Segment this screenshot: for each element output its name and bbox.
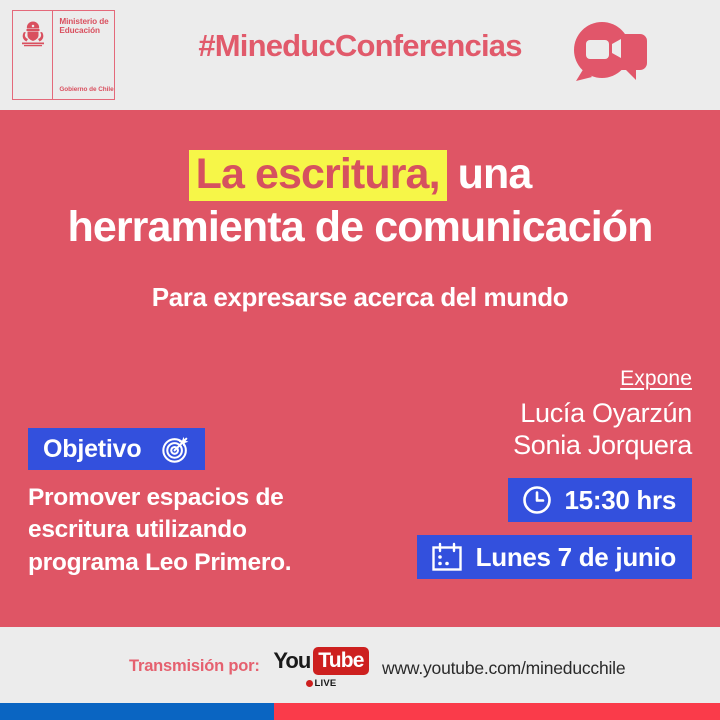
logo-ministry-line1: Ministerio de [59, 17, 110, 26]
poster-body: La escritura, una herramienta de comunic… [0, 110, 720, 627]
objetivo-badge: Objetivo [28, 428, 205, 470]
speaker-name-1: Lucía Oyarzún [520, 398, 692, 429]
record-dot-icon [306, 680, 313, 687]
youtube-wordmark: You Tube [283, 647, 359, 675]
chile-coat-of-arms-icon [18, 19, 48, 49]
logo-ministry-text: Ministerio de Educación [59, 17, 110, 36]
objetivo-label: Objetivo [43, 435, 141, 464]
youtube-you-text: You [273, 650, 310, 672]
date-badge: Lunes 7 de junio [417, 535, 692, 579]
target-icon [161, 434, 191, 464]
logo-government-text: Gobierno de Chile [59, 86, 113, 93]
poster-header: Ministerio de Educación Gobierno de Chil… [0, 0, 720, 110]
youtube-channel-url[interactable]: www.youtube.com/mineducchile [382, 658, 625, 679]
objetivo-line-3: programa Leo Primero. [28, 547, 358, 579]
chile-flag-bar [0, 703, 720, 720]
logo-text-panel: Ministerio de Educación Gobierno de Chil… [53, 11, 114, 99]
speaker-name-2: Sonia Jorquera [513, 430, 692, 461]
objetivo-description: Promover espacios de escritura utilizand… [28, 482, 358, 579]
video-chat-bubble-icon [566, 18, 654, 92]
poster-subtitle: Para expresarse acerca del mundo [0, 282, 720, 313]
time-badge-text: 15:30 hrs [565, 485, 676, 516]
objetivo-icon-wrap [161, 434, 191, 464]
logo-ministry-line2: Educación [59, 26, 110, 35]
youtube-live-badge: LIVE [283, 678, 359, 689]
youtube-live-logo: You Tube LIVE [283, 647, 359, 689]
bar-segment-blue [0, 703, 274, 720]
objetivo-line-2: escritura utilizando [28, 514, 358, 546]
calendar-icon [431, 542, 463, 572]
conference-poster: Ministerio de Educación Gobierno de Chil… [0, 0, 720, 720]
broadcast-label: Transmisión por: [129, 657, 260, 676]
youtube-tube-text: Tube [313, 647, 368, 675]
title-rest: una [447, 150, 532, 198]
logo-crest-panel [13, 11, 53, 99]
objetivo-line-1: Promover espacios de [28, 482, 358, 514]
poster-title: La escritura, una herramienta de comunic… [0, 148, 720, 255]
title-line-2: herramienta de comunicación [0, 201, 720, 254]
time-badge: 15:30 hrs [508, 478, 692, 522]
mineduc-logo: Ministerio de Educación Gobierno de Chil… [12, 10, 115, 100]
title-highlight: La escritura, [189, 150, 447, 201]
youtube-live-text: LIVE [315, 678, 337, 689]
date-badge-text: Lunes 7 de junio [476, 542, 676, 573]
clock-icon [522, 485, 552, 515]
bar-segment-red [274, 703, 720, 720]
title-line-1: La escritura, una [0, 148, 720, 201]
expone-label: Expone [620, 367, 692, 391]
event-hashtag: #MineducConferencias [160, 30, 560, 61]
poster-footer: Transmisión por: You Tube LIVE www.youtu… [0, 627, 720, 703]
